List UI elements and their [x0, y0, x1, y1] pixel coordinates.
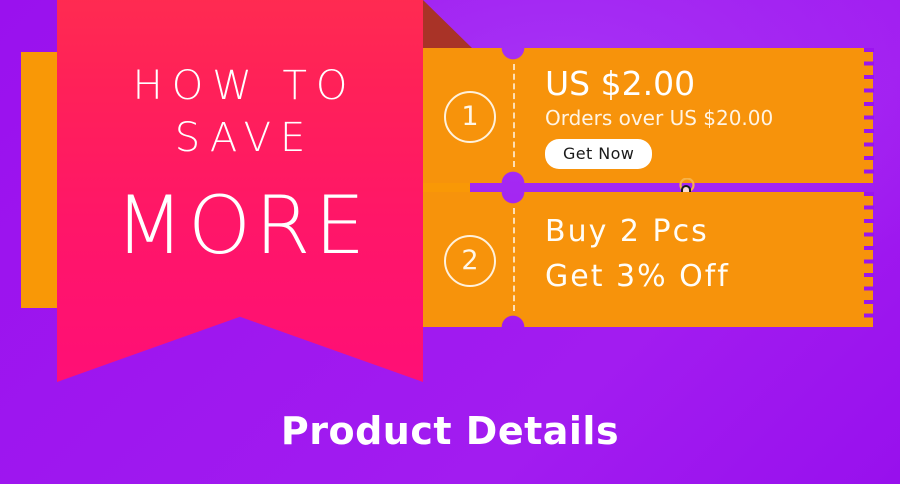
- coupon-2-number-badge: 2: [444, 235, 496, 287]
- ribbon-line-save: SAVE: [57, 112, 423, 164]
- coupon-1-number-badge: 1: [444, 91, 496, 143]
- coupon-1-perforation-line: [513, 64, 515, 167]
- decor-shadow-triangle: [423, 0, 473, 49]
- ribbon-banner: HOW TO SAVE MORE: [57, 0, 423, 382]
- coupon-1-serrated-edge: [864, 48, 874, 183]
- get-now-button[interactable]: Get Now: [545, 139, 652, 169]
- coupon-1-condition: Orders over US $20.00: [545, 104, 855, 132]
- coupon-1-amount: US $2.00: [545, 64, 855, 104]
- coupon-2-line-2: Get 3% Off: [545, 254, 855, 299]
- coupon-2-content: Buy 2 Pcs Get 3% Off: [545, 192, 855, 327]
- promo-banner: HOW TO SAVE MORE 1 US $2.00 Orders over …: [0, 0, 900, 484]
- ribbon-content: HOW TO SAVE MORE: [57, 0, 423, 274]
- product-details-title: Product Details: [0, 409, 900, 453]
- coupon-2-line-1: Buy 2 Pcs: [545, 209, 855, 254]
- coupon-card-2[interactable]: 2 Buy 2 Pcs Get 3% Off: [423, 192, 873, 327]
- coupon-2-perforation-line: [513, 208, 515, 311]
- coupon-2-serrated-edge: [864, 192, 874, 327]
- ribbon-line-how-to: HOW TO: [57, 60, 423, 112]
- coupon-card-1[interactable]: 1 US $2.00 Orders over US $20.00 Get Now: [423, 48, 873, 183]
- ribbon-line-more: MORE: [57, 178, 423, 274]
- coupon-1-content: US $2.00 Orders over US $20.00 Get Now: [545, 48, 855, 183]
